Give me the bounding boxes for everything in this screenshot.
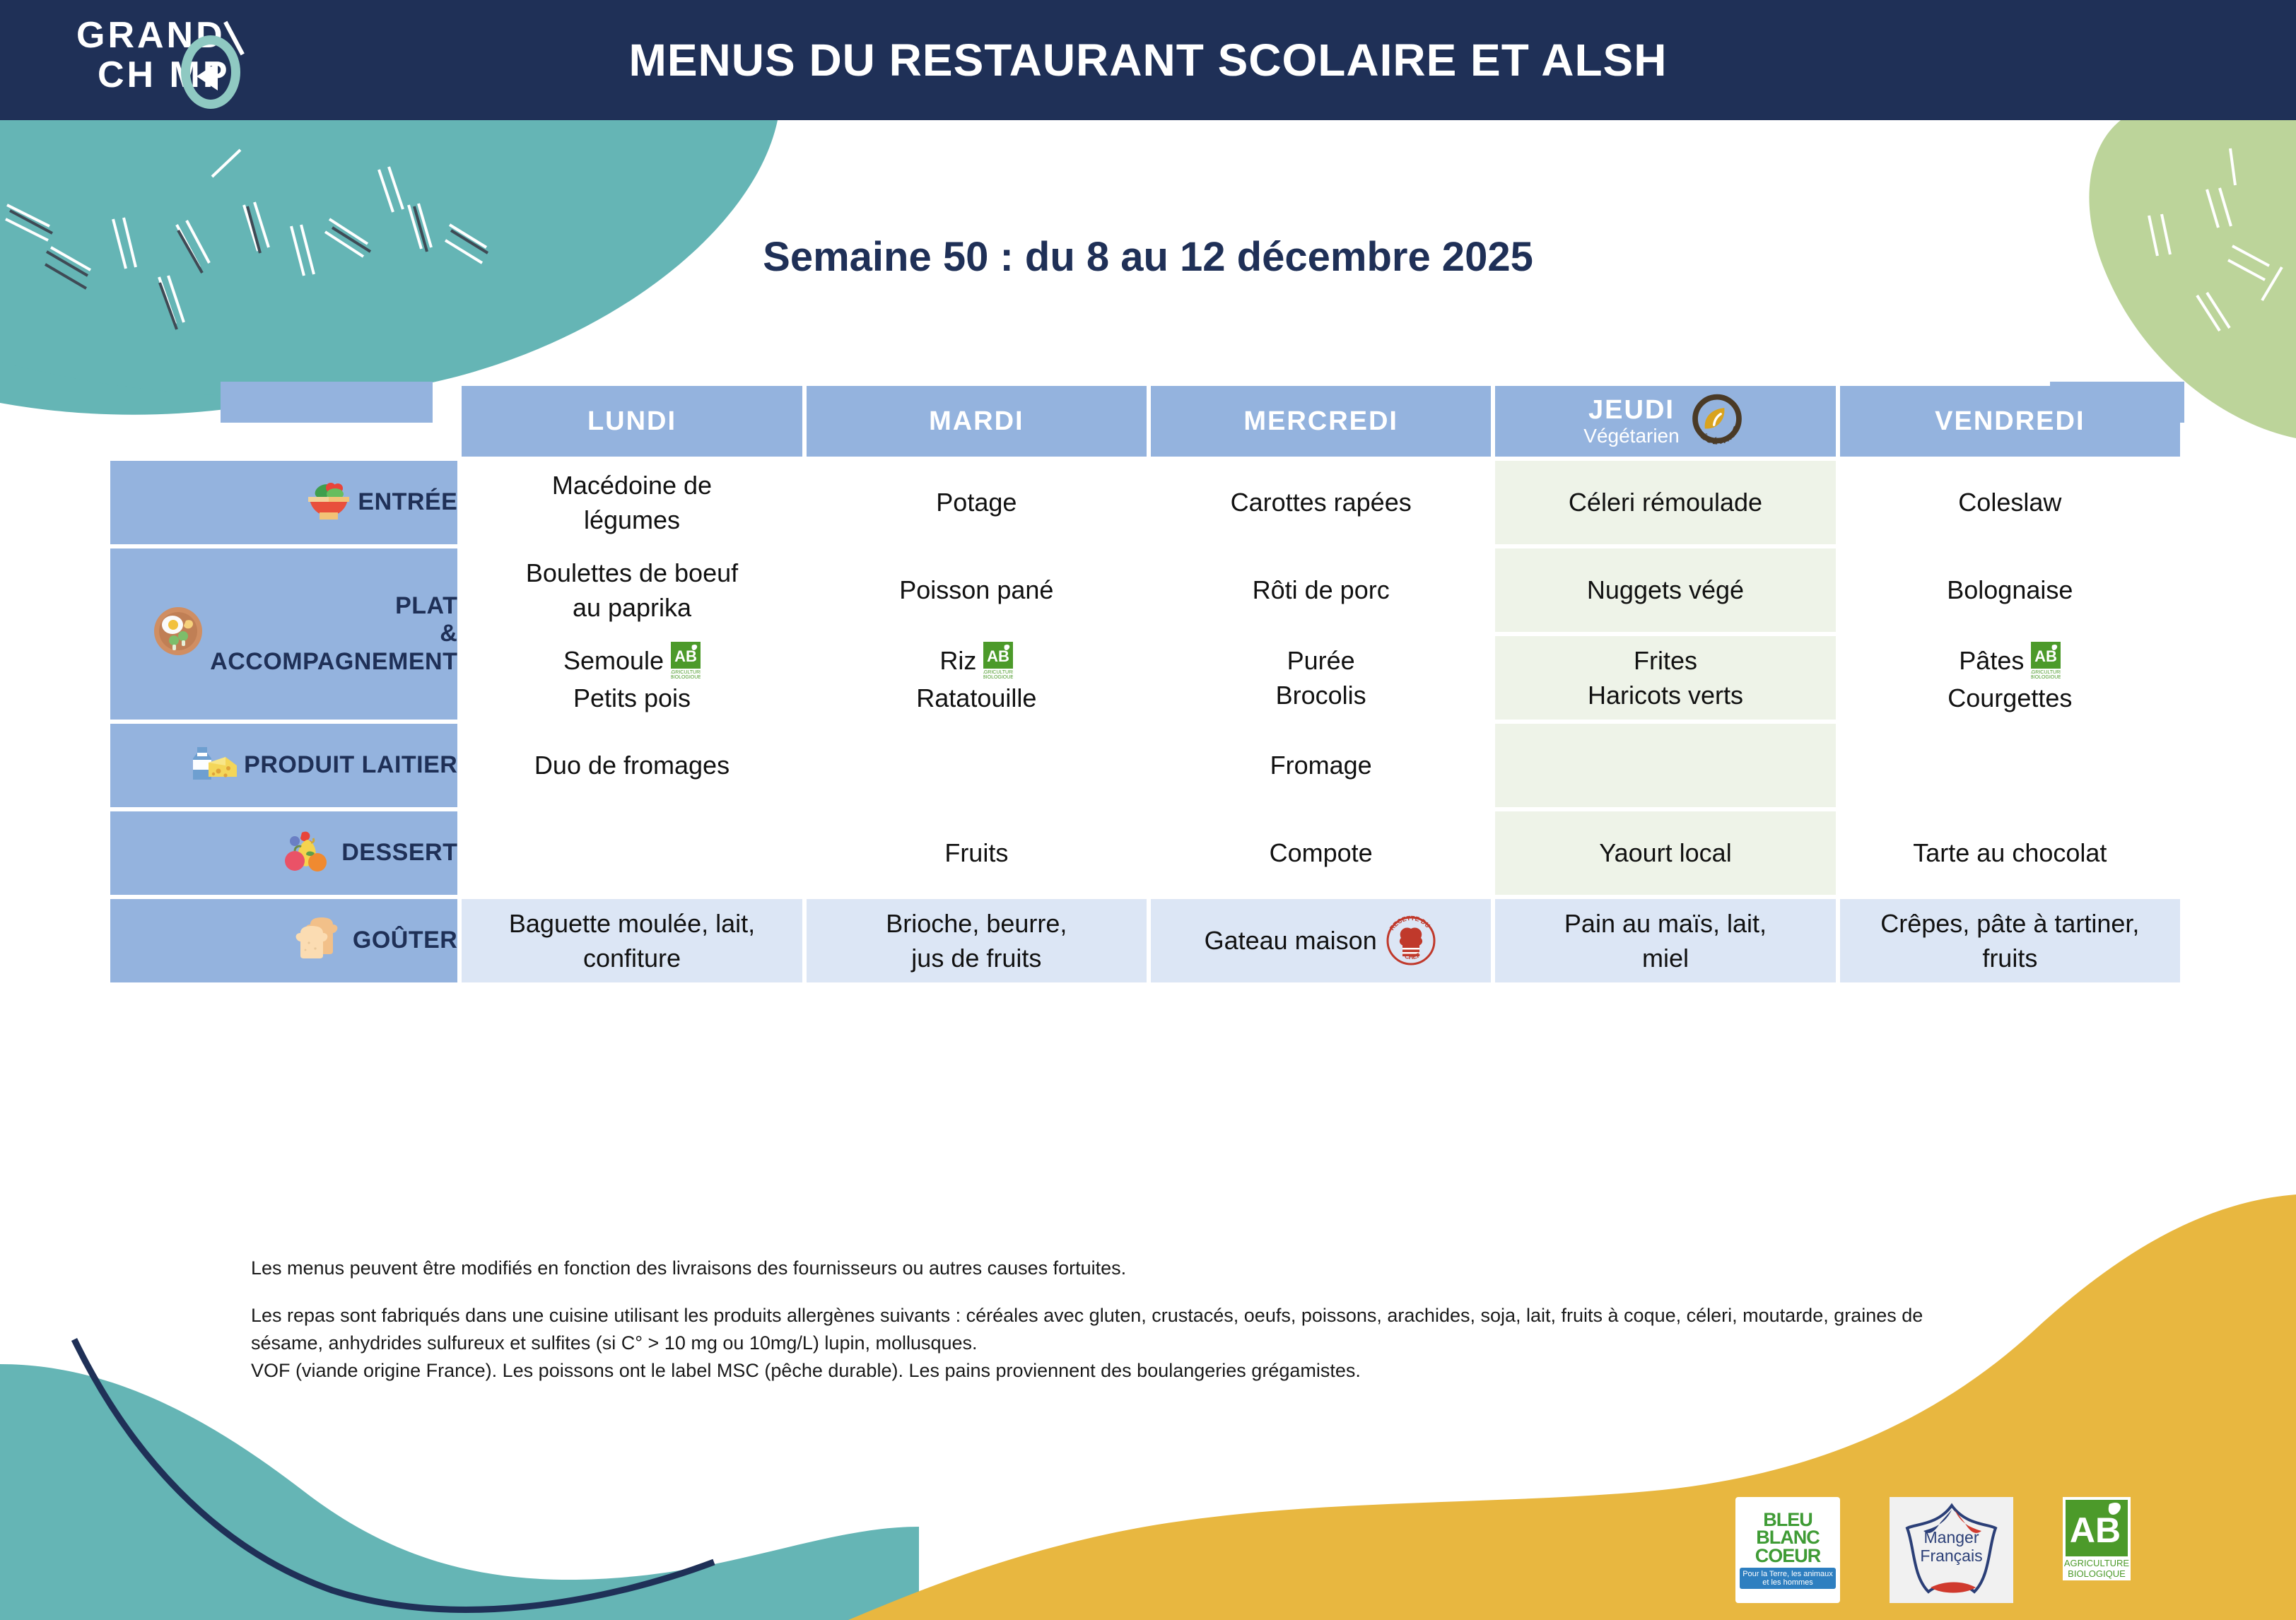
bread-slices-icon bbox=[293, 915, 348, 968]
cell-line: Petits pois bbox=[462, 683, 802, 713]
menu-cell-dairy-mardi bbox=[807, 724, 1147, 807]
cell-line: Boulettes de boeuf bbox=[462, 558, 802, 588]
footer-logo-strip: BLEU BLANC COEUR Pour la Terre, les anim… bbox=[1735, 1497, 2202, 1603]
bbc-tagline-2: et les hommes bbox=[1742, 1578, 1833, 1587]
table-corner-cell bbox=[110, 386, 457, 457]
cell-line: Riz bbox=[939, 645, 976, 676]
menu-cell-dessert-vendredi: Tarte au chocolat bbox=[1840, 811, 2180, 895]
day-header-mardi: MARDI bbox=[807, 386, 1147, 457]
row-label-plat-line2: & bbox=[210, 620, 457, 647]
week-title: Semaine 50 : du 8 au 12 décembre 2025 bbox=[0, 233, 2296, 281]
day-header-jeudi-sub: Végétarien bbox=[1583, 426, 1679, 446]
menu-cell-plat-mardi: Poisson pané bbox=[807, 548, 1147, 632]
cell-line: Courgettes bbox=[1840, 683, 2180, 713]
menu-cell-plat-lundi: Boulettes de boeuf au paprika bbox=[462, 548, 802, 632]
row-label-entree-text: ENTRÉE bbox=[358, 488, 457, 516]
day-header-jeudi-label: JEUDI bbox=[1588, 397, 1675, 423]
menu-cell-acc-mercredi: Purée Brocolis bbox=[1151, 636, 1491, 720]
row-label-dessert: DESSERT bbox=[110, 811, 457, 895]
svg-text:AB: AB bbox=[2070, 1510, 2121, 1550]
menu-cell-entree-jeudi: Céleri rémoulade bbox=[1495, 461, 1835, 544]
salad-bowl-icon bbox=[304, 477, 353, 529]
cell-line: Crêpes, pâte à tartiner, bbox=[1840, 908, 2180, 939]
svg-text:AGRICULTURE: AGRICULTURE bbox=[2031, 670, 2061, 675]
cell-line: miel bbox=[1495, 943, 1835, 973]
menu-cell-entree-mercredi: Carottes rapées bbox=[1151, 461, 1491, 544]
cell-line: Baguette moulée, lait, bbox=[462, 908, 802, 939]
menu-cell-gouter-mardi: Brioche, beurre, jus de fruits bbox=[807, 899, 1147, 982]
teal-wave-bottom-left bbox=[0, 1364, 919, 1620]
cell-line: fruits bbox=[1840, 943, 2180, 973]
cell-line: confiture bbox=[462, 943, 802, 973]
cell-line: Pâtes bbox=[1959, 645, 2024, 676]
table-header-row: LUNDI MARDI MERCREDI JEUDI Végétarien bbox=[110, 386, 2180, 457]
cell-line: au paprika bbox=[462, 592, 802, 623]
cell-line: Pain au maïs, lait, bbox=[1495, 908, 1835, 939]
menu-cell-acc-mardi: Riz AB AGRICULTURE BIOLOGIQUE bbox=[807, 636, 1147, 720]
menu-cell-gouter-vendredi: Crêpes, pâte à tartiner, fruits bbox=[1840, 899, 2180, 982]
bleu-blanc-coeur-logo: BLEU BLANC COEUR Pour la Terre, les anim… bbox=[1735, 1497, 1840, 1603]
milk-cheese-icon bbox=[184, 740, 240, 792]
note-origin: VOF (viande origine France). Les poisson… bbox=[251, 1357, 1947, 1385]
cell-line: Brioche, beurre, bbox=[807, 908, 1147, 939]
ab-sub-2: BIOLOGIQUE bbox=[2068, 1568, 2126, 1579]
table-row-plat: PLAT & ACCOMPAGNEMENT Boulettes de boeuf… bbox=[110, 548, 2180, 632]
day-header-lundi: LUNDI bbox=[462, 386, 802, 457]
menu-cell-gouter-jeudi: Pain au maïs, lait, miel bbox=[1495, 899, 1835, 982]
ab-bio-icon: AB AGRICULTURE BIOLOGIQUE bbox=[671, 642, 701, 679]
cell-line: Brocolis bbox=[1151, 680, 1491, 710]
menu-table: LUNDI MARDI MERCREDI JEUDI Végétarien bbox=[106, 382, 2184, 987]
menu-cell-acc-jeudi: Frites Haricots verts bbox=[1495, 636, 1835, 720]
menu-table-container: LUNDI MARDI MERCREDI JEUDI Végétarien bbox=[106, 382, 2184, 987]
footer-notes: Les menus peuvent être modifiés en fonct… bbox=[251, 1255, 1947, 1385]
menu-cell-dessert-mercredi: Compote bbox=[1151, 811, 1491, 895]
menu-cell-plat-jeudi: Nuggets végé bbox=[1495, 548, 1835, 632]
cell-line: Semoule bbox=[563, 645, 664, 676]
svg-text:AGRICULTURE: AGRICULTURE bbox=[671, 670, 701, 675]
day-header-vendredi: VENDREDI bbox=[1840, 386, 2180, 457]
day-header-mercredi: MERCREDI bbox=[1151, 386, 1491, 457]
ab-sub-1: AGRICULTURE bbox=[2064, 1558, 2130, 1568]
table-row-gouter: GOÛTER Baguette moulée, lait, confiture … bbox=[110, 899, 2180, 982]
row-label-plat-accompagnement: PLAT & ACCOMPAGNEMENT bbox=[110, 548, 457, 720]
day-header-jeudi: JEUDI Végétarien VÉGÉTARIEN bbox=[1495, 386, 1835, 457]
recette-du-chef-icon: RECETTE DU CHEF bbox=[1384, 914, 1438, 968]
bbc-tagline-1: Pour la Terre, les animaux bbox=[1742, 1570, 1833, 1578]
menu-cell-acc-lundi: Semoule AB AGRICULTURE BIOLOGIQUE bbox=[462, 636, 802, 720]
menu-cell-dessert-jeudi: Yaourt local bbox=[1495, 811, 1835, 895]
menu-cell-dairy-vendredi bbox=[1840, 724, 2180, 807]
note-allergens: Les repas sont fabriqués dans une cuisin… bbox=[251, 1302, 1947, 1357]
cell-line: Gateau maison bbox=[1205, 925, 1377, 956]
ab-bio-icon: AB AGRICULTURE BIOLOGIQUE bbox=[2031, 642, 2061, 679]
menu-cell-dessert-mardi: Fruits bbox=[807, 811, 1147, 895]
row-label-plat-line1: PLAT bbox=[210, 592, 457, 620]
svg-text:BIOLOGIQUE: BIOLOGIQUE bbox=[2031, 675, 2061, 679]
row-label-plat-line3: ACCOMPAGNEMENT bbox=[210, 648, 457, 676]
menu-cell-entree-vendredi: Coleslaw bbox=[1840, 461, 2180, 544]
menu-cell-gouter-lundi: Baguette moulée, lait, confiture bbox=[462, 899, 802, 982]
plate-egg-icon bbox=[151, 604, 206, 665]
cell-line: Frites bbox=[1495, 645, 1835, 676]
svg-text:BIOLOGIQUE: BIOLOGIQUE bbox=[671, 675, 701, 679]
row-label-produit-laitier: PRODUIT LAITIER bbox=[110, 724, 457, 807]
menu-cell-gouter-mercredi: Gateau maison RECE bbox=[1151, 899, 1491, 982]
row-label-produit-laitier-text: PRODUIT LAITIER bbox=[244, 751, 457, 779]
menu-cell-dairy-lundi: Duo de fromages bbox=[462, 724, 802, 807]
mf-line-1: Manger bbox=[1890, 1528, 2013, 1546]
row-label-gouter: GOÛTER bbox=[110, 899, 457, 982]
menu-cell-dessert-lundi bbox=[462, 811, 802, 895]
menu-cell-entree-lundi: Macédoine de légumes bbox=[462, 461, 802, 544]
menu-cell-dairy-mercredi: Fromage bbox=[1151, 724, 1491, 807]
note-modification: Les menus peuvent être modifiés en fonct… bbox=[251, 1255, 1947, 1282]
table-row-produit-laitier: PRODUIT LAITIER Duo de fromages Fromage bbox=[110, 724, 2180, 807]
cell-line: jus de fruits bbox=[807, 943, 1147, 973]
menu-cell-plat-vendredi: Bolognaise bbox=[1840, 548, 2180, 632]
ab-bio-icon: AB AGRICULTURE BIOLOGIQUE bbox=[983, 642, 1013, 679]
cell-line: légumes bbox=[462, 505, 802, 535]
page-title: MENUS DU RESTAURANT SCOLAIRE ET ALSH bbox=[0, 0, 2296, 120]
row-label-entree: ENTRÉE bbox=[110, 461, 457, 544]
row-label-gouter-text: GOÛTER bbox=[353, 927, 457, 954]
bbc-line-3: COEUR bbox=[1755, 1547, 1821, 1566]
menu-cell-dairy-jeudi bbox=[1495, 724, 1835, 807]
cell-line: Ratatouille bbox=[807, 683, 1147, 713]
table-row-dessert: DESSERT Fruits Compote Yaourt local Tart… bbox=[110, 811, 2180, 895]
menu-cell-entree-mardi: Potage bbox=[807, 461, 1147, 544]
cell-line: Purée bbox=[1151, 645, 1491, 676]
cell-line: Haricots verts bbox=[1495, 680, 1835, 710]
cell-line: Macédoine de bbox=[462, 470, 802, 500]
table-row-entree: ENTRÉE Macédoine de légumes Potage Carot… bbox=[110, 461, 2180, 544]
page-header: GRAND CH MP MENUS DU RESTAURANT SCOLAIRE… bbox=[0, 0, 2296, 120]
vegetarien-badge-icon: VÉGÉTARIEN bbox=[1687, 391, 1747, 452]
row-label-dessert-text: DESSERT bbox=[341, 839, 457, 867]
menu-cell-acc-vendredi: Pâtes AB AGRICULTURE BIOLOGIQUE bbox=[1840, 636, 2180, 720]
manger-francais-logo: Manger Français bbox=[1890, 1497, 2013, 1603]
row-label-plat-text: PLAT & ACCOMPAGNEMENT bbox=[210, 592, 457, 675]
svg-text:AGRICULTURE: AGRICULTURE bbox=[983, 670, 1013, 675]
menu-cell-plat-mercredi: Rôti de porc bbox=[1151, 548, 1491, 632]
mf-line-2: Français bbox=[1890, 1546, 2013, 1565]
agriculture-biologique-logo: AB AGRICULTURE BIOLOGIQUE bbox=[2063, 1497, 2131, 1580]
svg-text:BIOLOGIQUE: BIOLOGIQUE bbox=[983, 675, 1013, 679]
fruits-icon bbox=[281, 826, 337, 881]
